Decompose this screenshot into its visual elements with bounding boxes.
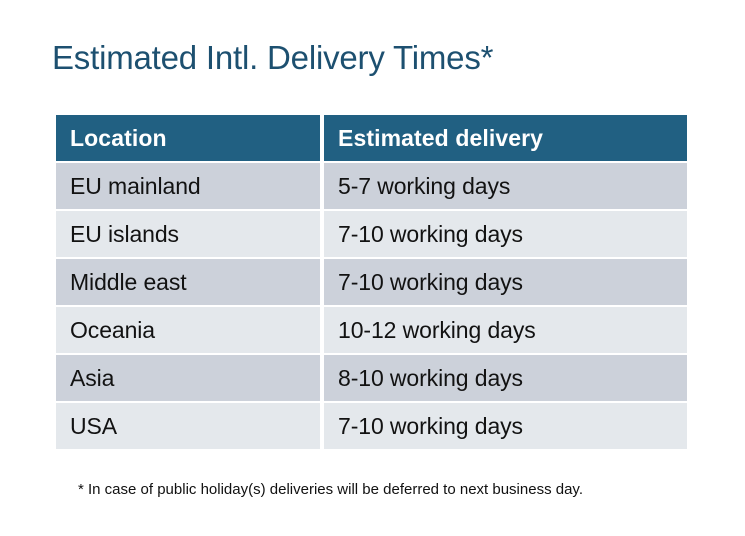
table-row: Oceania 10-12 working days: [56, 307, 687, 353]
column-header-estimated-delivery: Estimated delivery: [324, 115, 687, 161]
page-title: Estimated Intl. Delivery Times*: [52, 38, 493, 78]
cell-location: USA: [56, 403, 320, 449]
cell-estimated-delivery: 7-10 working days: [324, 403, 687, 449]
table-row: Asia 8-10 working days: [56, 355, 687, 401]
cell-estimated-delivery: 7-10 working days: [324, 211, 687, 257]
footnote-text: * In case of public holiday(s) deliverie…: [78, 480, 583, 500]
cell-estimated-delivery: 7-10 working days: [324, 259, 687, 305]
cell-estimated-delivery: 10-12 working days: [324, 307, 687, 353]
cell-estimated-delivery: 8-10 working days: [324, 355, 687, 401]
table-row: USA 7-10 working days: [56, 403, 687, 449]
table-header: Location Estimated delivery: [56, 115, 687, 161]
table-body: EU mainland 5-7 working days EU islands …: [56, 163, 687, 449]
cell-location: Oceania: [56, 307, 320, 353]
delivery-times-table: Location Estimated delivery EU mainland …: [52, 113, 691, 451]
table-row: EU islands 7-10 working days: [56, 211, 687, 257]
column-header-location: Location: [56, 115, 320, 161]
table-row: Middle east 7-10 working days: [56, 259, 687, 305]
cell-estimated-delivery: 5-7 working days: [324, 163, 687, 209]
cell-location: EU islands: [56, 211, 320, 257]
cell-location: EU mainland: [56, 163, 320, 209]
cell-location: Middle east: [56, 259, 320, 305]
table-row: EU mainland 5-7 working days: [56, 163, 687, 209]
delivery-times-page: Estimated Intl. Delivery Times* Location…: [0, 0, 745, 536]
table-header-row: Location Estimated delivery: [56, 115, 687, 161]
cell-location: Asia: [56, 355, 320, 401]
